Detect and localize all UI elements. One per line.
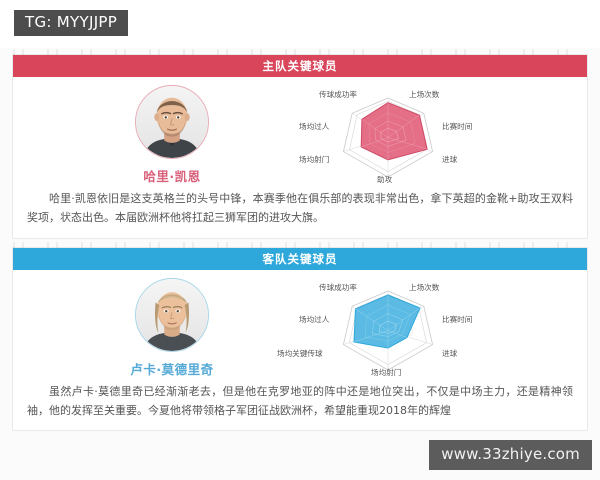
home-player-block[interactable]: 哈里·凯恩 — [87, 85, 257, 185]
home-card-header: 主队关键球员 — [13, 55, 587, 77]
home-radar-label-3: 助攻 — [377, 174, 393, 183]
home-radar-chart: 上场次数 比赛时间 进球 助攻 场均射门 场均过人 传球成功率 — [263, 87, 513, 183]
away-card-header: 客队关键球员 — [13, 248, 587, 270]
away-radar-label-6: 传球成功率 — [319, 282, 357, 292]
away-card-body: 卢卡·莫德里奇 — [13, 270, 587, 380]
away-player-name: 卢卡·莫德里奇 — [130, 359, 213, 378]
away-player-block[interactable]: 卢卡·莫德里奇 — [87, 278, 257, 378]
page-canvas: 主队关键球员 — [0, 48, 600, 480]
away-radar-label-4: 场均关键传球 — [277, 348, 323, 358]
home-key-player-card: 主队关键球员 — [12, 54, 588, 239]
watermark-top-left: TG: MYYJJPP — [14, 10, 128, 36]
away-player-avatar — [135, 278, 209, 352]
watermark-bottom-right: www.33zhiye.com — [429, 440, 592, 470]
home-player-avatar — [135, 85, 209, 159]
home-radar-series — [361, 103, 427, 160]
away-radar-chart: 上场次数 比赛时间 进球 场均射门 场均关键传球 场均过人 传球成功率 — [263, 280, 513, 376]
card-ruler-ticks-away — [13, 242, 587, 248]
away-key-player-card: 客队关键球员 — [12, 247, 588, 432]
home-radar-label-2: 进球 — [442, 154, 458, 164]
home-radar-label-6: 传球成功率 — [319, 89, 357, 99]
away-radar-label-1: 比赛时间 — [442, 314, 472, 324]
home-player-description: 哈里·凯恩依旧是这支英格兰的头号中锋，本赛季他在俱乐部的表现非常出色，拿下英超的… — [13, 187, 587, 238]
away-player-description: 虽然卢卡·莫德里奇已经渐渐老去，但是他在克罗地亚的阵中还是地位突出，不仅是中场主… — [13, 380, 587, 431]
away-radar-label-5: 场均过人 — [299, 314, 330, 324]
home-radar-label-0: 上场次数 — [409, 89, 440, 99]
home-player-name: 哈里·凯恩 — [143, 166, 200, 185]
home-radar-label-1: 比赛时间 — [442, 121, 472, 131]
away-radar-series — [354, 295, 420, 348]
away-radar-label-2: 进球 — [442, 348, 458, 358]
card-ruler-ticks-home — [13, 49, 587, 55]
away-radar-label-0: 上场次数 — [409, 282, 440, 292]
home-radar-label-5: 场均过人 — [299, 121, 330, 131]
home-card-body: 哈里·凯恩 — [13, 77, 587, 187]
away-radar-label-3: 场均射门 — [371, 367, 401, 376]
home-radar-label-4: 场均射门 — [299, 154, 329, 164]
